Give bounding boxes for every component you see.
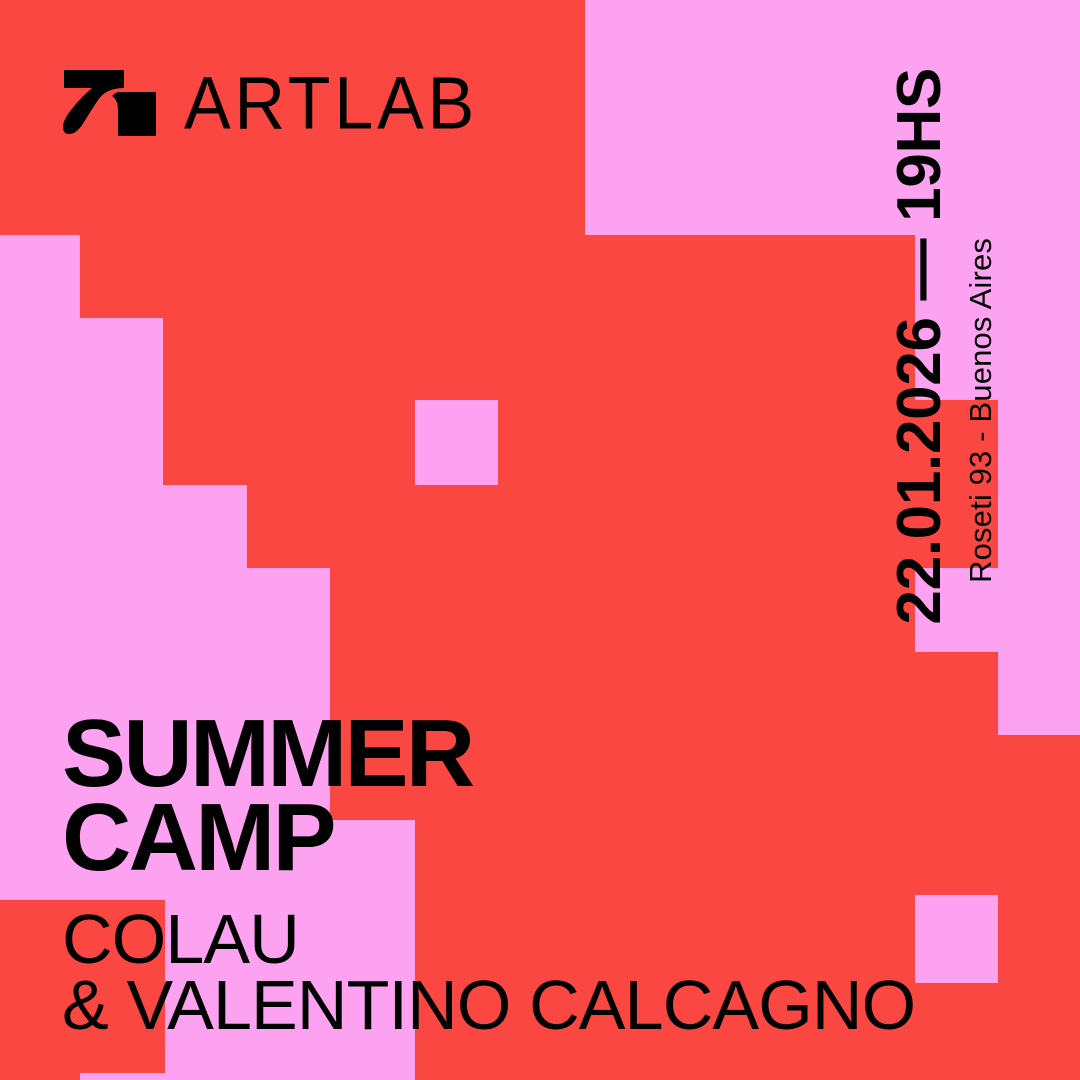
event-venue: Roseti 93 - Buenos Aires bbox=[963, 238, 999, 583]
pink-bottom-notch bbox=[80, 1073, 165, 1080]
headline-block: SUMMER CAMP COLAU & VALENTINO CALCAGNO bbox=[62, 712, 915, 1039]
pink-right-lower bbox=[998, 0, 1080, 735]
pink-right-square bbox=[915, 895, 998, 983]
poster-canvas: ARTLAB 22.01.2026 — 19HS Roseti 93 - Bue… bbox=[0, 0, 1080, 1080]
artlab-logo-mark bbox=[62, 66, 158, 140]
event-title: SUMMER CAMP bbox=[62, 712, 915, 881]
artlab-wordmark: ARTLAB bbox=[184, 70, 478, 137]
event-artists: COLAU & VALENTINO CALCAGNO bbox=[62, 907, 915, 1039]
artlab-logo-lockup[interactable]: ARTLAB bbox=[62, 66, 478, 140]
event-date-time: 22.01.2026 — 19HS bbox=[884, 68, 955, 625]
pink-center-square bbox=[415, 400, 498, 485]
